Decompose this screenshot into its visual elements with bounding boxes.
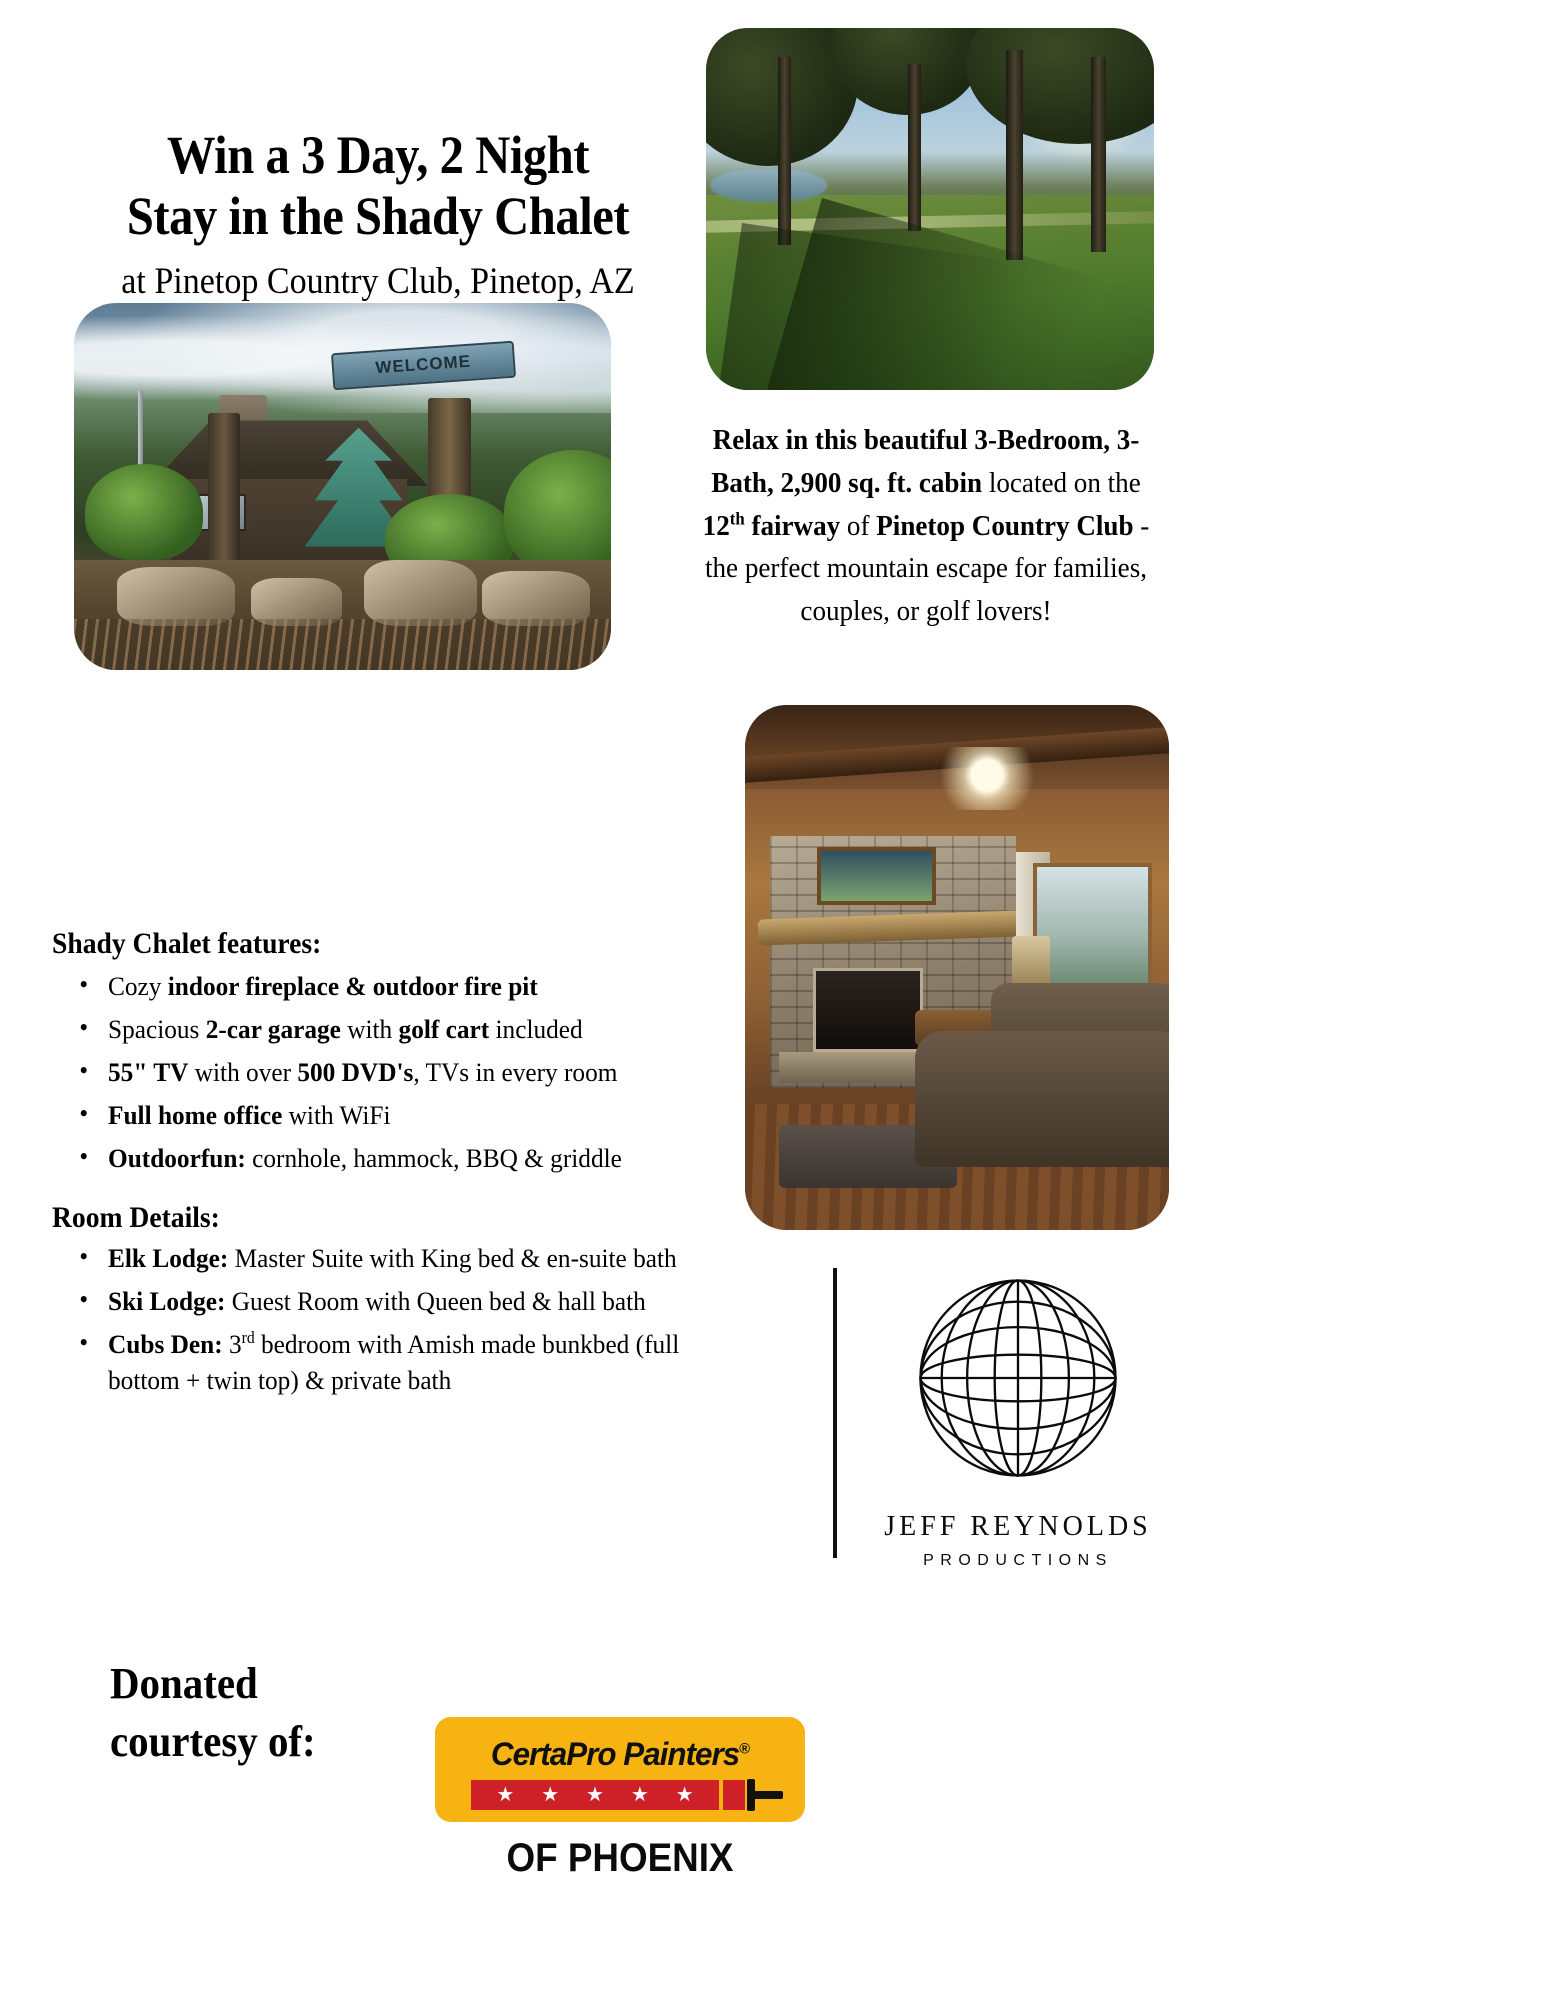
list-item: Cubs Den: 3rd bedroom with Amish made bu… (66, 1326, 696, 1398)
tree-trunk (908, 64, 921, 231)
list-item: Full home office with WiFi (66, 1097, 677, 1133)
star-icon: ★ (676, 1785, 694, 1805)
sofa (915, 1031, 1169, 1168)
jeff-reynolds-logo: JEFF REYNOLDS PRODUCTIONS (872, 1272, 1164, 1570)
tree-trunk (778, 57, 791, 245)
title-block: Win a 3 Day, 2 Night Stay in the Shady C… (48, 125, 708, 306)
star-icon: ★ (541, 1785, 559, 1805)
list-item: Ski Lodge: Guest Room with Queen bed & h… (66, 1283, 696, 1319)
donated-line-1: Donated (110, 1655, 417, 1713)
page-title-line-1: Win a 3 Day, 2 Night (81, 125, 675, 186)
shady-chalet-exterior-photo: WELCOME (74, 303, 611, 670)
list-item: Spacious 2-car garage with golf cart inc… (66, 1011, 677, 1047)
ground-sticks (74, 619, 611, 670)
features-list: Cozy indoor fireplace & outdoor fire pit… (66, 968, 706, 1183)
tree-trunk (1091, 57, 1106, 252)
tree-trunk (1006, 50, 1023, 260)
shrub (85, 464, 203, 559)
interior-window (1033, 863, 1152, 989)
rock (117, 567, 235, 626)
star-icon: ★ (496, 1785, 514, 1805)
certapro-logo: CertaPro Painters® ★★★★★ OF PHOENIX (430, 1717, 810, 1881)
rock (364, 560, 477, 626)
star-icon: ★ (586, 1785, 604, 1805)
golf-pond (710, 169, 826, 202)
table-lamp (1012, 936, 1050, 983)
paint-roller-handle-icon (749, 1791, 783, 1799)
wall-artwork (817, 847, 936, 905)
jeff-reynolds-tagline: PRODUCTIONS (872, 1552, 1164, 1570)
certapro-badge: CertaPro Painters® ★★★★★ (435, 1717, 805, 1822)
jeff-reynolds-name: JEFF REYNOLDS (872, 1511, 1164, 1543)
flyer-page: Win a 3 Day, 2 Night Stay in the Shady C… (0, 0, 1545, 1999)
room-details-heading: Room Details: (52, 1201, 220, 1235)
room-details-list: Elk Lodge: Master Suite with King bed & … (66, 1240, 726, 1405)
golf-course-photo (706, 28, 1154, 390)
globe-icon (912, 1272, 1124, 1484)
star-icon: ★ (631, 1785, 649, 1805)
certapro-brand-label: CertaPro Painters (491, 1736, 739, 1772)
list-item: Elk Lodge: Master Suite with King bed & … (66, 1240, 696, 1276)
sign-post-left (208, 413, 240, 567)
fireplace-firebox (813, 968, 923, 1052)
certapro-red-block (723, 1780, 745, 1810)
certapro-location: OF PHOENIX (445, 1836, 795, 1881)
page-subtitle: at Pinetop Country Club, Pinetop, AZ (74, 258, 681, 306)
cabin-living-room-photo (745, 705, 1169, 1230)
donated-line-2: courtesy of: (110, 1713, 417, 1771)
welcome-sign-text: WELCOME (375, 352, 472, 379)
list-item: 55" TV with over 500 DVD's, TVs in every… (66, 1054, 677, 1090)
features-heading: Shady Chalet features: (52, 927, 321, 961)
page-title-line-2: Stay in the Shady Chalet (81, 186, 675, 247)
registered-trademark-icon: ® (739, 1740, 749, 1757)
description-paragraph: Relax in this beautiful 3-Bedroom, 3-Bat… (689, 420, 1164, 634)
certapro-star-bar: ★★★★★ (471, 1780, 719, 1810)
footer-divider (833, 1268, 837, 1558)
list-item: Cozy indoor fireplace & outdoor fire pit (66, 968, 677, 1004)
ceiling-fan-light (932, 747, 1042, 810)
certapro-brand-text: CertaPro Painters® (439, 1736, 802, 1773)
donated-courtesy-text: Donated courtesy of: (110, 1655, 417, 1771)
list-item: Outdoorfun: cornhole, hammock, BBQ & gri… (66, 1140, 677, 1176)
